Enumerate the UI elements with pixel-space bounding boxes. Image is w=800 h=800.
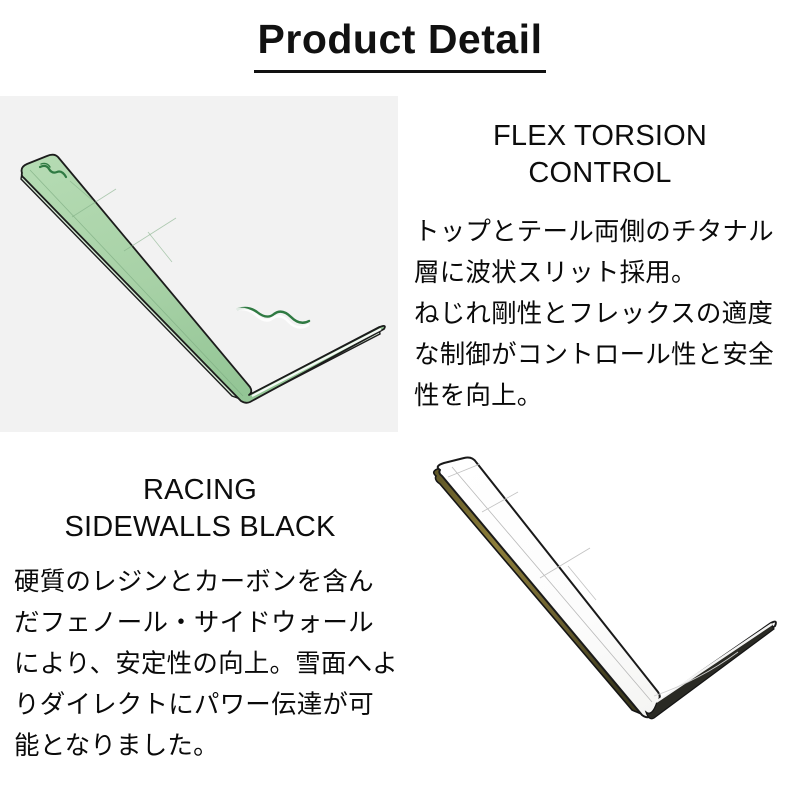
body-flex-line-3: ねじれ剛性とフレックスの適度 [414, 294, 796, 335]
body-racing-line-4: りダイレクトにパワー伝達が可 [14, 685, 400, 726]
guide-line-center [30, 170, 243, 396]
tail-rim-highlight [252, 329, 381, 396]
guide-line-center-white [452, 467, 652, 702]
body-flex-line-5: 性を向上。 [414, 376, 796, 417]
section-racing-sidewalls-black: RACING SIDEWALLS BLACK 硬質のレジンとカーボンを含ん だフ… [0, 440, 800, 800]
page-title: Product Detail [254, 18, 547, 73]
page-title-container: Product Detail [0, 18, 800, 73]
flex-torsion-text-block: FLEX TORSION CONTROL トップとテール両側のチタナル 層に波状… [400, 96, 800, 432]
body-racing-line-1: 硬質のレジンとカーボンを含ん [14, 562, 400, 603]
body-racing-line-2: だフェノール・サイドウォール [14, 603, 400, 644]
black-sidewall-ski-illustration [400, 440, 800, 790]
body-flex-torsion-control: トップとテール両側のチタナル 層に波状スリット採用。 ねじれ剛性とフレックスの適… [414, 212, 796, 417]
heading-racing-line-1: RACING [4, 472, 396, 509]
section-flex-torsion-control: FLEX TORSION CONTROL トップとテール両側のチタナル 層に波状… [0, 96, 800, 434]
tail-wave-slit-highlight [238, 309, 308, 328]
heading-flex-line-1: FLEX TORSION [408, 118, 792, 155]
body-racing-line-5: 能となりました。 [14, 726, 400, 767]
body-flex-line-1: トップとテール両側のチタナル [414, 212, 796, 253]
heading-flex-line-2: CONTROL [408, 155, 792, 192]
racing-sidewalls-text-block: RACING SIDEWALLS BLACK 硬質のレジンとカーボンを含ん だフ… [0, 440, 400, 800]
body-flex-line-4: な制御がコントロール性と安全 [414, 335, 796, 376]
guide-line-tick-4 [148, 232, 172, 262]
black-sidewall-ski-panel [400, 440, 800, 790]
heading-racing-line-2: SIDEWALLS BLACK [4, 509, 396, 546]
body-flex-line-2: 層に波状スリット採用。 [414, 253, 796, 294]
green-ski-illustration [0, 96, 398, 432]
tail-rim-highlight-white [656, 624, 772, 702]
ski-edge-thickness [646, 623, 774, 719]
heading-racing-sidewalls-black: RACING SIDEWALLS BLACK [4, 472, 396, 546]
body-racing-line-3: により、安定性の向上。雪面へよ [14, 644, 400, 685]
green-ski-panel [0, 96, 398, 432]
heading-flex-torsion-control: FLEX TORSION CONTROL [408, 118, 792, 192]
body-racing-sidewalls-black: 硬質のレジンとカーボンを含ん だフェノール・サイドウォール により、安定性の向上… [14, 562, 400, 767]
